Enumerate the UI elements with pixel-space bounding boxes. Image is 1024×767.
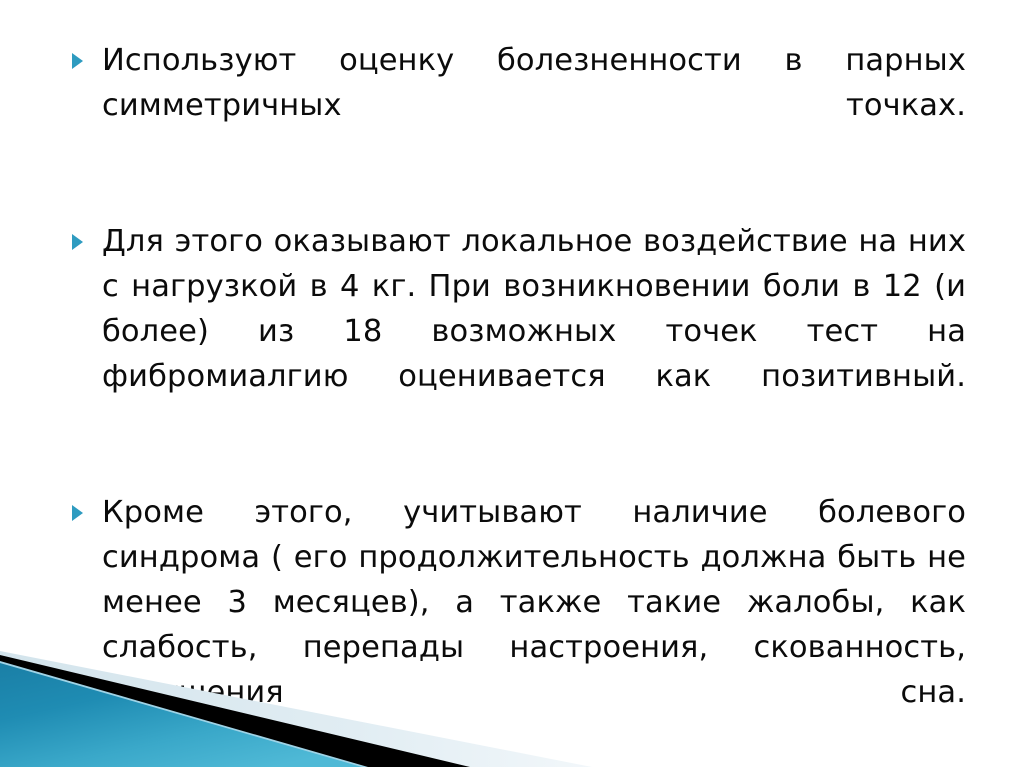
slide: Используют оценку болезненности в парных… — [0, 0, 1024, 767]
list-item: Используют оценку болезненности в парных… — [68, 38, 966, 173]
triangle-bullet-icon — [72, 53, 83, 69]
list-item-text: Кроме этого, учитывают наличие болевого … — [102, 490, 966, 760]
list-item-text: Используют оценку болезненности в парных… — [102, 38, 966, 173]
triangle-bullet-icon — [72, 234, 83, 250]
triangle-bullet-icon — [72, 505, 83, 521]
list-item: Для этого оказывают локальное воздействи… — [68, 219, 966, 444]
slide-body: Используют оценку болезненности в парных… — [68, 38, 966, 760]
list-item: Кроме этого, учитывают наличие болевого … — [68, 490, 966, 760]
list-item-text: Для этого оказывают локальное воздействи… — [102, 219, 966, 444]
